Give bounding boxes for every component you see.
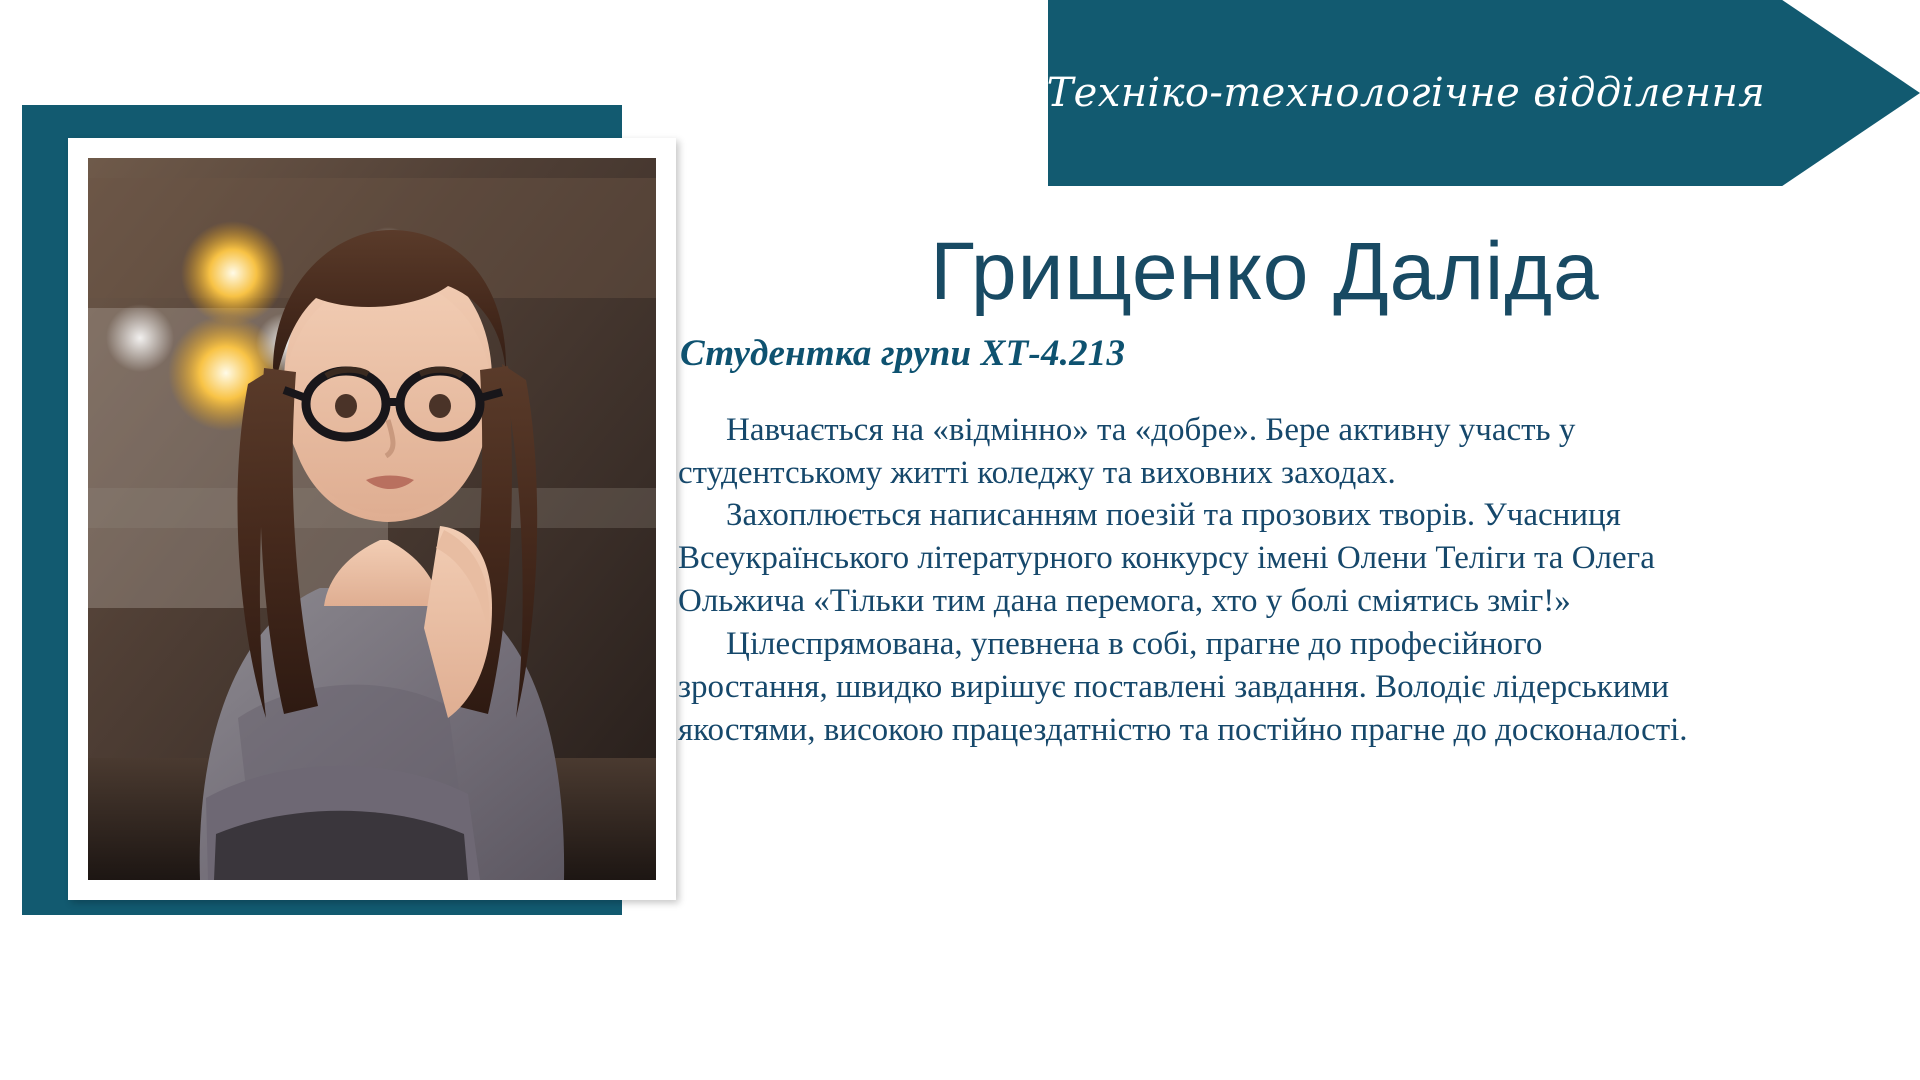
description-paragraph: Навчається на «відмінно» та «добре». Бер… <box>678 409 1688 495</box>
department-banner: Техніко-технологічне відділення <box>1048 0 1920 186</box>
profile-description: Навчається на «відмінно» та «добре». Бер… <box>678 409 1688 752</box>
profile-subtitle: Студентка групи ХТ-4.213 <box>680 332 1840 375</box>
photo-frame <box>22 105 622 915</box>
banner-label: Техніко-технологічне відділення <box>1048 0 1772 186</box>
student-photo <box>88 158 656 880</box>
slide-root: Техніко-технологічне відділення <box>0 0 1920 1080</box>
profile-content: Грищенко Даліда Студентка групи ХТ-4.213… <box>690 230 1840 752</box>
description-paragraph: Цілеспрямована, упевнена в собі, прагне … <box>678 623 1688 752</box>
portrait-illustration <box>88 158 656 880</box>
description-paragraph: Захоплюється написанням поезій та прозов… <box>678 494 1688 623</box>
photo-mat <box>68 138 676 900</box>
page-title: Грищенко Даліда <box>690 230 1840 314</box>
